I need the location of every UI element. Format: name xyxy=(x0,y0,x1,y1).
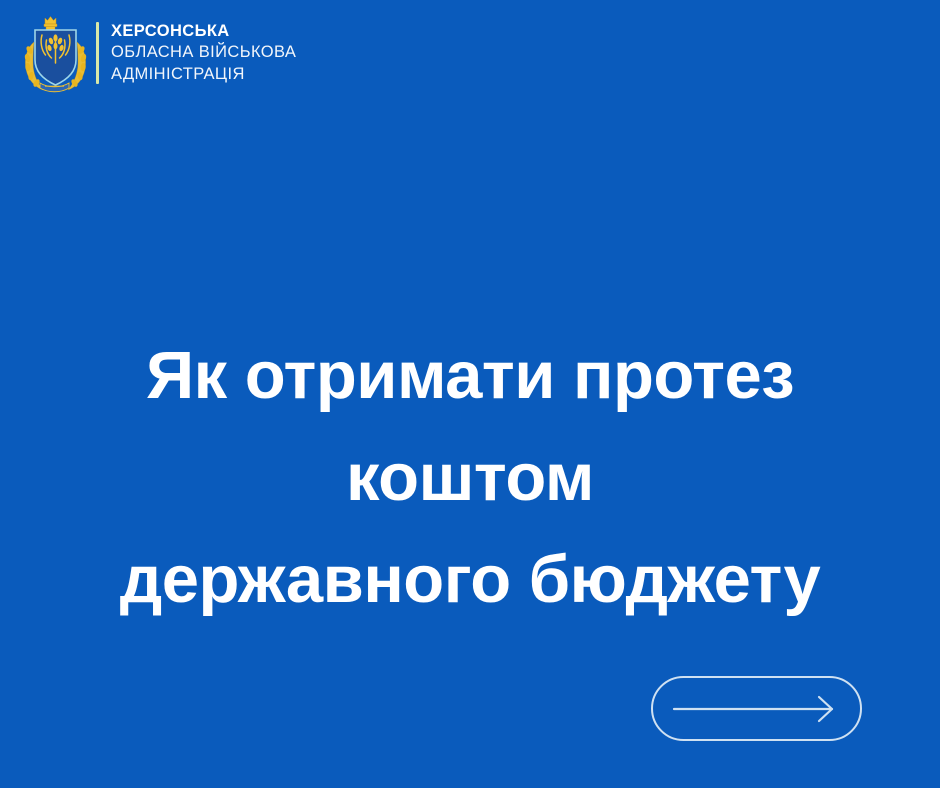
headline: Як отримати протез коштом державного бюд… xyxy=(0,325,940,630)
social-card: ХЕРСОНСЬКА ОБЛАСНА ВІЙСЬКОВА АДМІНІСТРАЦ… xyxy=(0,0,940,788)
arrow-right-icon xyxy=(672,694,842,724)
brand-line-oblast-military: ОБЛАСНА ВІЙСЬКОВА xyxy=(111,42,296,63)
brand-line-administration: АДМІНІСТРАЦІЯ xyxy=(111,64,296,85)
brand-divider xyxy=(96,22,99,84)
kherson-oblast-coat-of-arms-icon xyxy=(18,11,90,95)
brand-lockup: ХЕРСОНСЬКА ОБЛАСНА ВІЙСЬКОВА АДМІНІСТРАЦ… xyxy=(18,10,296,96)
next-slide-button[interactable] xyxy=(651,676,862,741)
brand-line-kherson: ХЕРСОНСЬКА xyxy=(111,21,296,42)
brand-text: ХЕРСОНСЬКА ОБЛАСНА ВІЙСЬКОВА АДМІНІСТРАЦ… xyxy=(111,21,296,84)
